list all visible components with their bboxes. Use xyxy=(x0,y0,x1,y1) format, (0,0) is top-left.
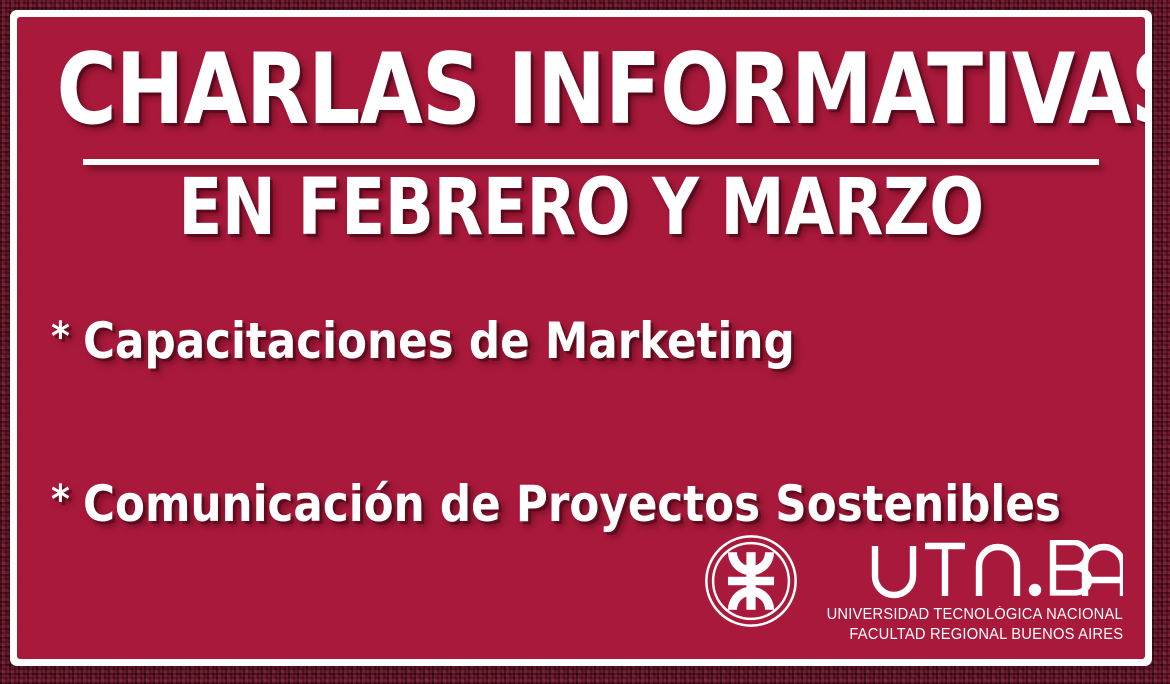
list-item: * Comunicación de Proyectos Sostenibles xyxy=(51,478,1101,531)
utn-wordmark-block: UNIVERSIDAD TECNOLÓGICA NACIONAL FACULTA… xyxy=(811,532,1123,645)
list-item-label: Capacitaciones de Marketing xyxy=(83,315,795,368)
utn-sun-emblem-icon xyxy=(703,533,799,629)
list-item-label: Comunicación de Proyectos Sostenibles xyxy=(83,478,1061,531)
utn-ba-wordmark xyxy=(869,540,1123,600)
poster-frame: CHARLAS INFORMATIVAS EN FEBRERO Y MARZO … xyxy=(10,10,1152,666)
page-subtitle: EN FEBRERO Y MARZO xyxy=(62,169,1100,247)
poster-panel: CHARLAS INFORMATIVAS EN FEBRERO Y MARZO … xyxy=(17,17,1145,659)
asterisk-bullet-icon: * xyxy=(51,480,70,520)
utn-ba-logo: UNIVERSIDAD TECNOLÓGICA NACIONAL FACULTA… xyxy=(703,532,1123,645)
utn-university-line: UNIVERSIDAD TECNOLÓGICA NACIONAL xyxy=(827,605,1123,625)
utn-faculty-line: FACULTAD REGIONAL BUENOS AIRES xyxy=(849,625,1123,645)
page-title: CHARLAS INFORMATIVAS xyxy=(56,41,1105,139)
list-item: * Capacitaciones de Marketing xyxy=(51,315,1101,368)
asterisk-bullet-icon: * xyxy=(51,317,70,357)
